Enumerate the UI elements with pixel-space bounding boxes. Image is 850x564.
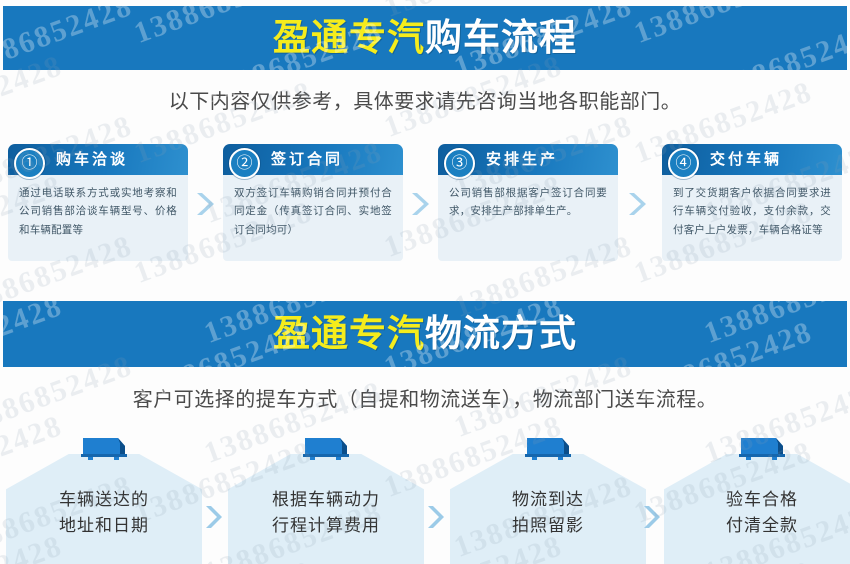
chevron-right-icon-5	[425, 504, 445, 530]
step-body-1: 通过电话联系方式或实地考察和公司销售部洽谈车辆型号、价格和车辆配置等	[8, 175, 188, 261]
step-title-1: 购车洽谈	[56, 144, 128, 175]
truck-icon-1	[77, 434, 131, 464]
truck-icon-3	[521, 434, 575, 464]
step-number-badge-2: ②	[229, 148, 260, 179]
chevron-right-icon-6	[641, 504, 661, 530]
logistics-card-text-1: 车辆送达的 地址和日期	[6, 487, 202, 540]
step-title-4: 交付车辆	[710, 144, 782, 175]
step-body-4: 到了交货期客户依据合同要求进行车辆交付验收，支付余款，交付客户上户发票，车辆合格…	[662, 175, 842, 261]
logistics-card-line2-1: 地址和日期	[6, 513, 202, 539]
truck-icon-4	[735, 434, 789, 464]
logistics-card-2[interactable]: 根据车辆动力 行程计算费用	[228, 432, 424, 564]
step-header-4: ④ 交付车辆	[662, 144, 842, 175]
step-body-3: 公司销售部根据客户签订合同要求，安排生产部排单生产。	[438, 175, 618, 261]
step-card-2[interactable]: ② 签订合同 双方签订车辆购销合同并预付合同定金（传真签订合同、实地签订合同均可…	[223, 144, 403, 261]
step-header-1: ① 购车洽谈	[8, 144, 188, 175]
banner-subject: 购车流程	[425, 16, 577, 59]
logistics-card-line1-1: 车辆送达的	[6, 487, 202, 513]
logistics-card-3[interactable]: 物流到达 拍照留影	[450, 432, 646, 564]
step-header-2: ② 签订合同	[223, 144, 403, 175]
logistics-cards-row: 车辆送达的 地址和日期 根据车辆动力 行程计算费用	[0, 432, 850, 564]
banner-subject-logistics: 物流方式	[425, 312, 577, 355]
step-number-badge-4: ④	[668, 148, 699, 179]
logistics-subtitle: 客户可选择的提车方式（自提和物流送车），物流部门送车流程。	[0, 383, 850, 412]
step-card-1[interactable]: ① 购车洽谈 通过电话联系方式或实地考察和公司销售部洽谈车辆型号、价格和车辆配置…	[8, 144, 188, 261]
truck-icon-2	[299, 434, 353, 464]
logistics-card-line1-4: 验车合格	[664, 487, 850, 513]
logistics-card-line1-3: 物流到达	[450, 487, 646, 513]
step-title-2: 签订合同	[271, 144, 343, 175]
logistics-card-4[interactable]: 验车合格 付清全款	[664, 432, 850, 564]
step-number-badge-1: ①	[14, 148, 45, 179]
chevron-right-icon-1	[193, 191, 215, 217]
logistics-card-text-2: 根据车辆动力 行程计算费用	[228, 487, 424, 540]
logistics-card-line1-2: 根据车辆动力	[228, 487, 424, 513]
chevron-right-icon-2	[408, 191, 430, 217]
banner-title-logistics: 盈通专汽物流方式	[3, 315, 847, 352]
logistics-card-text-4: 验车合格 付清全款	[664, 487, 850, 540]
brand-name-logistics: 盈通专汽	[273, 312, 425, 355]
step-number-badge-3: ③	[444, 148, 475, 179]
infographic-page: 盈通专汽购车流程 以下内容仅供参考，具体要求请先咨询当地各职能部门。 ① 购车洽…	[0, 0, 850, 564]
purchase-process-subtitle: 以下内容仅供参考，具体要求请先咨询当地各职能部门。	[0, 85, 850, 114]
logistics-card-line2-2: 行程计算费用	[228, 513, 424, 539]
step-header-3: ③ 安排生产	[438, 144, 618, 175]
banner-title-purchase: 盈通专汽购车流程	[3, 19, 847, 56]
brand-name: 盈通专汽	[273, 16, 425, 59]
step-card-3[interactable]: ③ 安排生产 公司销售部根据客户签订合同要求，安排生产部排单生产。	[438, 144, 618, 261]
chevron-right-icon-3	[625, 191, 647, 217]
logistics-card-line2-3: 拍照留影	[450, 513, 646, 539]
logistics-card-line2-4: 付清全款	[664, 513, 850, 539]
step-title-3: 安排生产	[486, 144, 558, 175]
logistics-banner: 盈通专汽物流方式	[3, 301, 847, 367]
purchase-process-banner: 盈通专汽购车流程	[3, 6, 847, 70]
chevron-right-icon-4	[203, 504, 223, 530]
logistics-card-1[interactable]: 车辆送达的 地址和日期	[6, 432, 202, 564]
purchase-steps-row: ① 购车洽谈 通过电话联系方式或实地考察和公司销售部洽谈车辆型号、价格和车辆配置…	[0, 144, 850, 264]
step-card-4[interactable]: ④ 交付车辆 到了交货期客户依据合同要求进行车辆交付验收，支付余款，交付客户上户…	[662, 144, 842, 261]
step-body-2: 双方签订车辆购销合同并预付合同定金（传真签订合同、实地签订合同均可）	[223, 175, 403, 261]
logistics-card-text-3: 物流到达 拍照留影	[450, 487, 646, 540]
